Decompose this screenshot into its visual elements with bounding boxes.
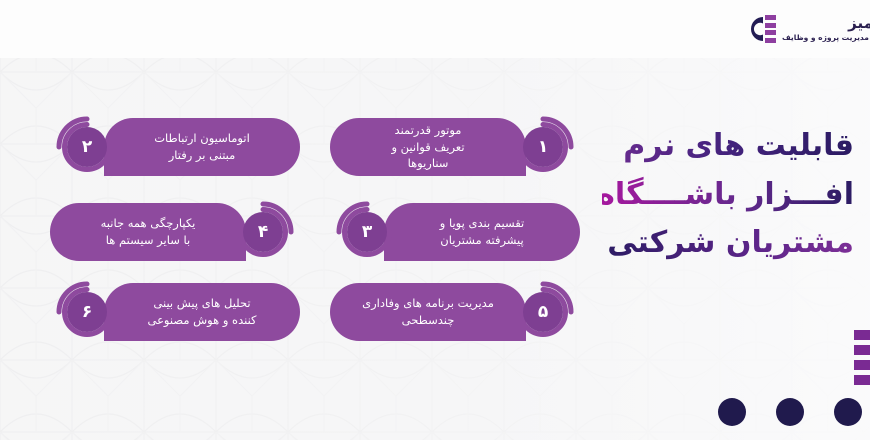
feature-card-1-bubble: موتور قدرتمند تعریف قوانین و سناریوها: [330, 118, 526, 176]
feature-card-5-number: ۵: [538, 304, 548, 321]
feature-card-5[interactable]: مدیریت برنامه های وفاداری چندسطحی ۵: [330, 283, 580, 341]
feature-card-3-badge: ۳: [340, 205, 394, 259]
feature-card-1-label: موتور قدرتمند تعریف قوانین و سناریوها: [391, 122, 464, 172]
logo-text-block: کــارمیز نرم افزار مدیریت پروژه و وظایف: [782, 15, 870, 43]
feature-card-4[interactable]: یکپارچگی همه جانبه با سایر سیستم ها ۴: [50, 203, 300, 261]
feature-card-6[interactable]: تحلیل های پیش بینی کننده و هوش مصنوعی ۶: [50, 283, 300, 341]
headline-line-3: مشتریان شرکتی: [602, 219, 854, 268]
feature-card-6-badge: ۶: [60, 285, 114, 339]
feature-card-2-bubble: اتوماسیون ارتباطات مبتنی بر رفتار: [104, 118, 300, 176]
headline-line-1: قابلیت های نرم: [602, 122, 854, 171]
feature-card-1-number: ۱: [538, 139, 548, 156]
feature-card-4-label: یکپارچگی همه جانبه با سایر سیستم ها: [101, 215, 196, 248]
feature-card-4-number: ۴: [258, 224, 268, 241]
feature-card-2-disc: ۲: [67, 127, 107, 167]
karmiz-c-mark-icon: [742, 13, 776, 45]
decor-dots: [718, 398, 862, 426]
feature-card-6-disc: ۶: [67, 292, 107, 332]
feature-card-3-label: تقسیم بندی پویا و پیشرفته مشتریان: [440, 215, 524, 248]
feature-card-4-bubble: یکپارچگی همه جانبه با سایر سیستم ها: [50, 203, 246, 261]
feature-card-3-disc: ۳: [347, 212, 387, 252]
feature-card-3-number: ۳: [362, 224, 372, 241]
feature-card-5-bubble: مدیریت برنامه های وفاداری چندسطحی: [330, 283, 526, 341]
feature-card-2-number: ۲: [82, 139, 92, 156]
feature-card-2-badge: ۲: [60, 120, 114, 174]
feature-card-5-disc: ۵: [523, 292, 563, 332]
feature-card-1-disc: ۱: [523, 127, 563, 167]
logo-title: کــارمیز: [782, 15, 870, 32]
page-title: قابلیت های نرم افـــزار باشــــگاه مشتری…: [602, 122, 854, 268]
feature-card-3[interactable]: تقسیم بندی پویا و پیشرفته مشتریان ۳: [330, 203, 580, 261]
decor-bars: [854, 330, 870, 385]
feature-card-5-label: مدیریت برنامه های وفاداری چندسطحی: [362, 295, 494, 328]
logo-bars: [765, 15, 776, 43]
feature-card-1[interactable]: موتور قدرتمند تعریف قوانین و سناریوها ۱: [330, 118, 580, 176]
brand-logo[interactable]: کــارمیز نرم افزار مدیریت پروژه و وظایف: [742, 9, 862, 49]
feature-card-4-badge: ۴: [236, 205, 290, 259]
infographic-canvas: کــارمیز نرم افزار مدیریت پروژه و وظایف …: [0, 0, 870, 440]
feature-card-2-label: اتوماسیون ارتباطات مبتنی بر رفتار: [154, 130, 250, 163]
feature-card-5-badge: ۵: [516, 285, 570, 339]
feature-card-1-badge: ۱: [516, 120, 570, 174]
feature-card-6-number: ۶: [82, 304, 92, 321]
feature-card-4-disc: ۴: [243, 212, 283, 252]
header-strip: [0, 0, 870, 58]
feature-card-2[interactable]: اتوماسیون ارتباطات مبتنی بر رفتار ۲: [50, 118, 300, 176]
feature-card-6-bubble: تحلیل های پیش بینی کننده و هوش مصنوعی: [104, 283, 300, 341]
headline-line-2: افـــزار باشــــگاه: [602, 171, 854, 220]
feature-card-6-label: تحلیل های پیش بینی کننده و هوش مصنوعی: [147, 295, 256, 328]
logo-subtitle: نرم افزار مدیریت پروژه و وظایف: [782, 34, 870, 43]
feature-card-3-bubble: تقسیم بندی پویا و پیشرفته مشتریان: [384, 203, 580, 261]
